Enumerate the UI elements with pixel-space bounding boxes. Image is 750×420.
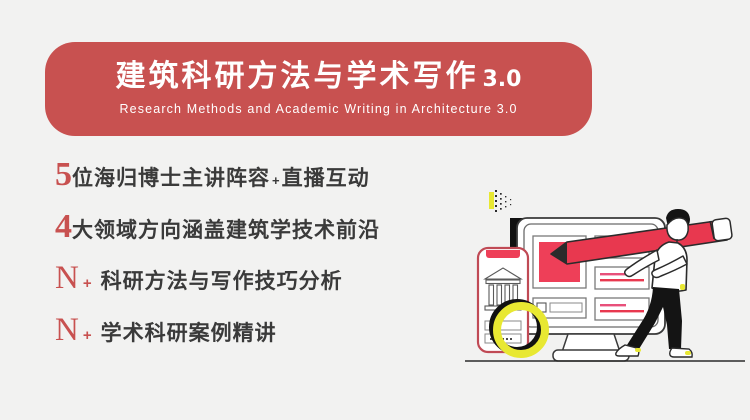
bullet-marker: 4 [55, 210, 72, 244]
list-item: N + 科研方法与写作技巧分析 [55, 262, 475, 314]
title-version: 3.0 [483, 69, 522, 91]
phone-notch-bar [486, 250, 520, 258]
page-title: 建筑科研方法与学术写作3.0 [116, 62, 522, 92]
hero-illustration [455, 180, 750, 380]
feature-bullet-list: 5 位海归博士主讲阵容 + 直播互动 4 大领域方向涵盖建筑学技术前沿 N + … [55, 158, 475, 366]
list-item: 5 位海归博士主讲阵容 + 直播互动 [55, 158, 475, 210]
list-item: 4 大领域方向涵盖建筑学技术前沿 [55, 210, 475, 262]
bullet-text-before: 科研方法与写作技巧分析 [101, 271, 343, 292]
bullet-marker: N [55, 314, 79, 347]
bullet-text-before: 学术科研案例精讲 [101, 323, 277, 344]
bullet-text-after: 直播互动 [282, 168, 370, 189]
bullet-marker: 5 [55, 158, 72, 192]
bullet-text-before: 大领域方向涵盖建筑学技术前沿 [72, 220, 380, 241]
list-item: N + 学术科研案例精讲 [55, 314, 475, 366]
title-main-text: 建筑科研方法与学术写作 [116, 62, 479, 92]
bullet-marker: N [55, 262, 79, 295]
page-subtitle: Research Methods and Academic Writing in… [119, 102, 517, 116]
title-banner: 建筑科研方法与学术写作3.0 Research Methods and Acad… [45, 42, 592, 136]
bullet-mid-separator: + [272, 174, 280, 187]
bullet-text-before: 位海归博士主讲阵容 [72, 168, 270, 189]
bullet-plus-sign: + [83, 276, 92, 291]
checkbox-label-bar [550, 303, 582, 312]
bullet-plus-sign: + [83, 328, 92, 343]
halftone-dots-decoration [489, 190, 511, 212]
